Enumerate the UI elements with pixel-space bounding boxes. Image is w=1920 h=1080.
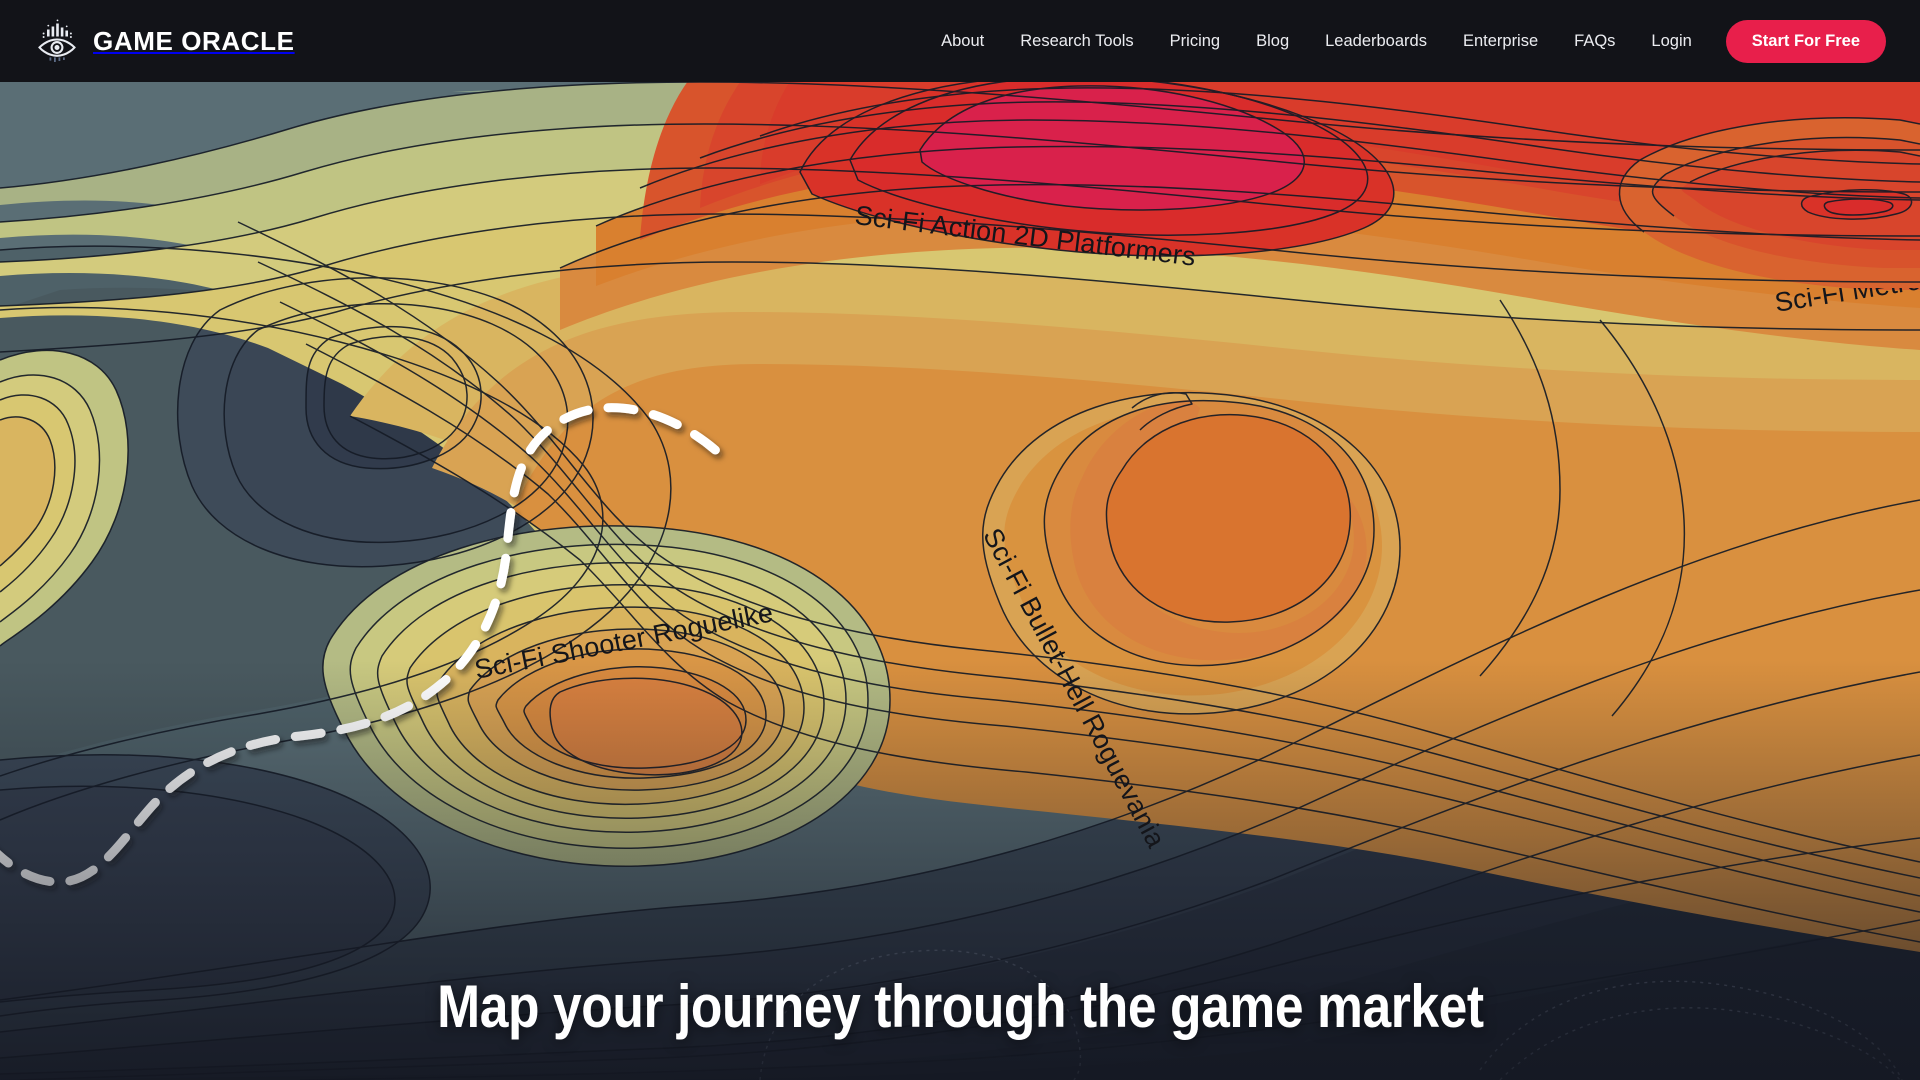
brand-name: GAME ORACLE	[93, 26, 295, 57]
site-header: GAME ORACLE About Research Tools Pricing…	[0, 0, 1920, 82]
nav-link-faqs[interactable]: FAQs	[1556, 23, 1633, 60]
nav-link-enterprise[interactable]: Enterprise	[1445, 23, 1556, 60]
nav-link-leaderboards[interactable]: Leaderboards	[1307, 23, 1445, 60]
nav-link-login[interactable]: Login	[1633, 23, 1709, 60]
main-navigation: About Research Tools Pricing Blog Leader…	[923, 20, 1886, 63]
nav-link-about[interactable]: About	[923, 23, 1002, 60]
page-root: Sci-Fi Action 2D Platformers Sci-Fi Metr…	[0, 0, 1920, 1080]
nav-link-blog[interactable]: Blog	[1238, 23, 1307, 60]
brand-logo-link[interactable]: GAME ORACLE	[34, 18, 295, 64]
nav-link-pricing[interactable]: Pricing	[1152, 23, 1238, 60]
eye-chart-icon	[34, 18, 80, 64]
contour-map[interactable]	[0, 0, 1920, 1080]
start-for-free-button[interactable]: Start For Free	[1726, 20, 1886, 63]
contour-bands	[0, 0, 1920, 1080]
contour-map-svg	[0, 0, 1920, 1080]
nav-link-research-tools[interactable]: Research Tools	[1002, 23, 1151, 60]
